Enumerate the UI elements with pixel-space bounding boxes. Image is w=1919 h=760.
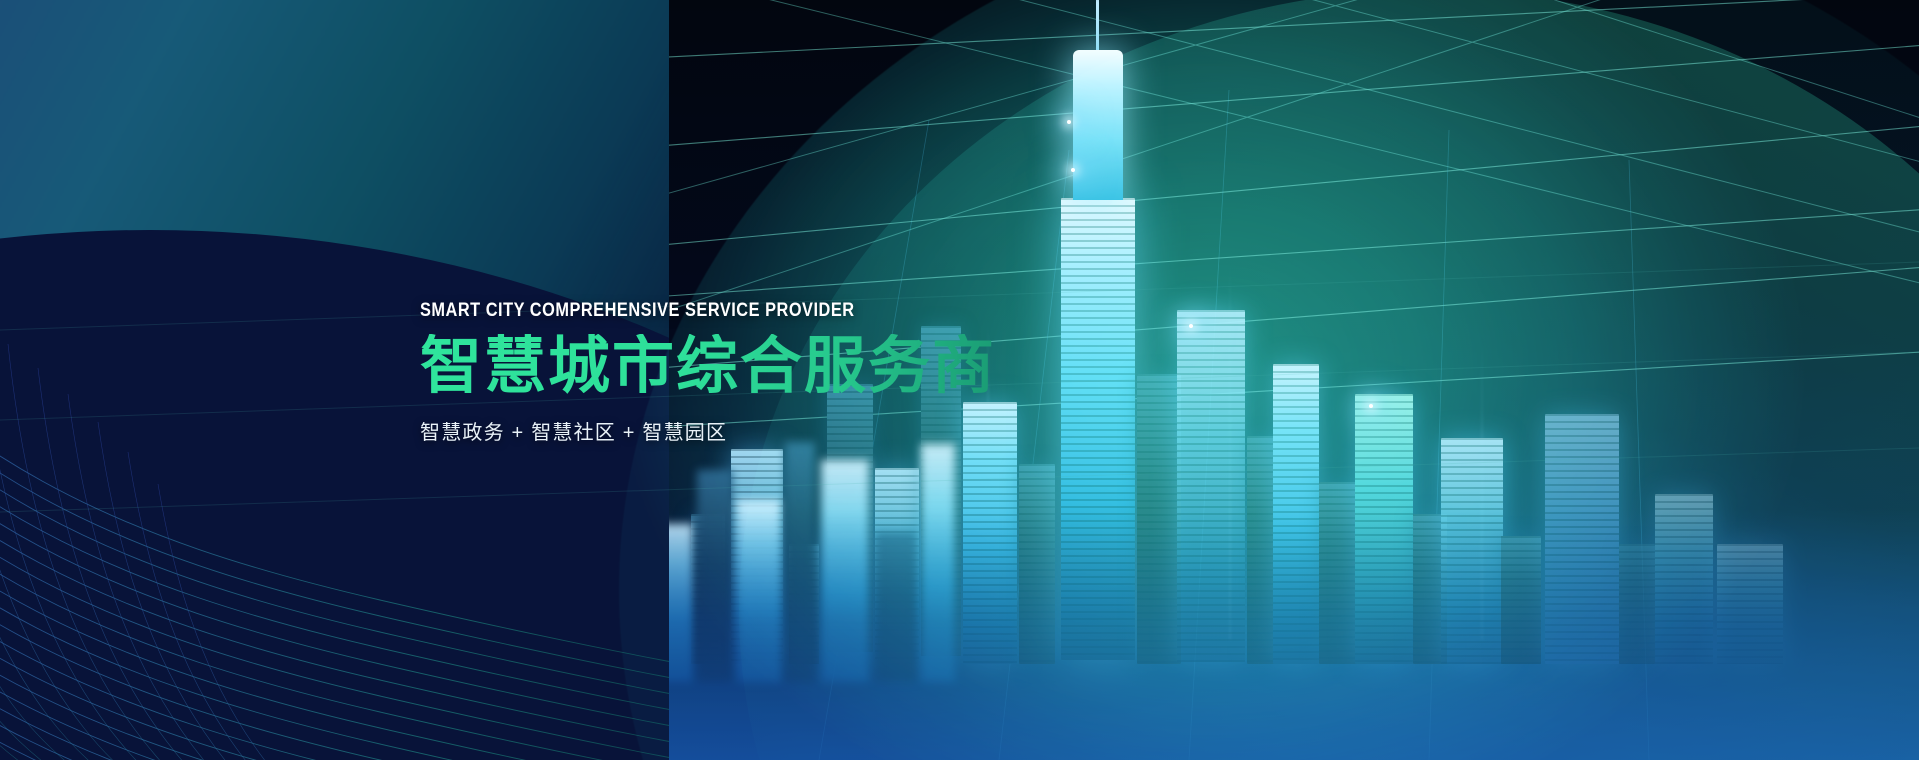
hero-banner: SMART CITY COMPREHENSIVE SERVICE PROVIDE…: [0, 0, 1919, 760]
hero-headline: 智慧城市综合服务商: [420, 334, 1180, 400]
hero-eyebrow: SMART CITY COMPREHENSIVE SERVICE PROVIDE…: [420, 300, 1074, 322]
hero-subline: 智慧政务 + 智慧社区 + 智慧园区: [420, 416, 1180, 445]
hero-copy-block: SMART CITY COMPREHENSIVE SERVICE PROVIDE…: [420, 300, 1180, 445]
